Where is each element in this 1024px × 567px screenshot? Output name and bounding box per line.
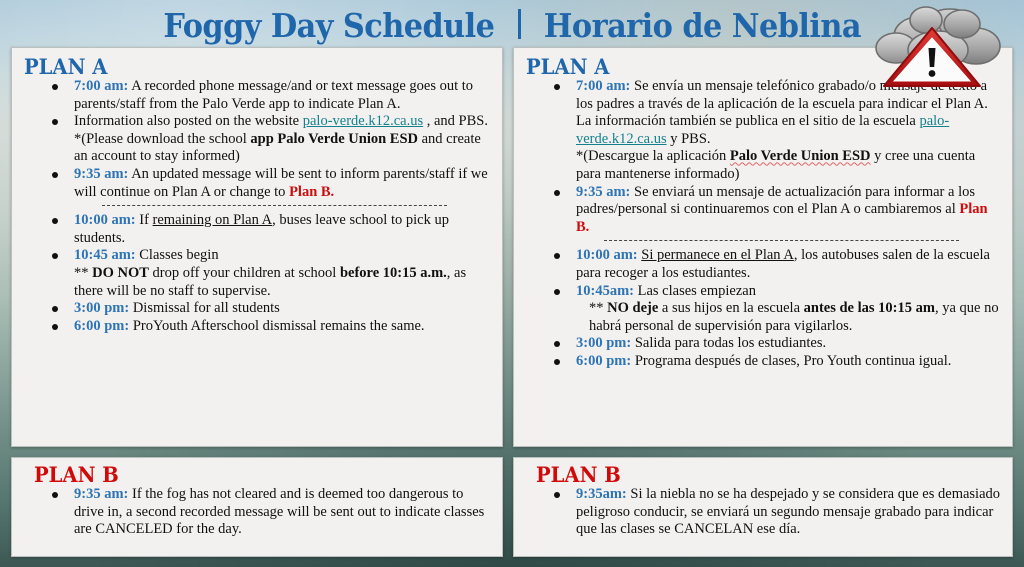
panel-plan-b-english: PLAN B 9:35 am: If the fog has not clear… xyxy=(11,457,503,557)
school-website-link[interactable]: palo-verde.k12.ca.us xyxy=(303,113,423,129)
list-item: Information also posted on the website p… xyxy=(48,113,492,166)
section-divider xyxy=(102,205,447,206)
item-text: Dismissal for all students xyxy=(129,300,280,316)
plan-b-heading-spanish: PLAN B xyxy=(536,464,979,486)
plan-b-heading-english: PLAN B xyxy=(34,464,469,486)
item-time: 3:00 pm: xyxy=(74,300,129,316)
item-text: An updated message will be sent to infor… xyxy=(74,166,488,200)
note-mid: a sus hijos en la escuela xyxy=(658,300,803,316)
list-item: 9:35 am: An updated message will be sent… xyxy=(48,166,492,206)
item-text: Salida para todas los estudiantes. xyxy=(631,335,826,351)
plan-a-list-spanish: 7:00 am: Se envía un mensaje telefónico … xyxy=(514,78,1012,371)
item-time: 10:45 am: xyxy=(74,247,136,263)
item-time: 10:45am: xyxy=(576,283,634,299)
item-time: 9:35 am: xyxy=(74,486,128,502)
list-item: 9:35 am: If the fog has not cleared and … xyxy=(48,486,492,539)
panel-plan-a-english: PLAN A 7:00 am: A recorded phone message… xyxy=(11,47,503,447)
item-note: *(Descargue la aplicación Palo Verde Uni… xyxy=(576,148,1002,183)
list-item: 3:00 pm: Dismissal for all students xyxy=(48,300,492,318)
item-time: 7:00 am: xyxy=(576,78,630,94)
panel-plan-a-spanish: PLAN A 7:00 am: Se envía un mensaje tele… xyxy=(513,47,1013,447)
section-divider xyxy=(604,240,959,241)
item-time: 6:00 pm: xyxy=(576,353,631,369)
item-text: Si la niebla no se ha despejado y se con… xyxy=(576,486,1000,537)
note-prefix: *(Descargue la aplicación xyxy=(576,148,730,164)
item-text: Classes begin xyxy=(136,247,219,263)
note-bold-do-not: DO NOT xyxy=(92,265,149,281)
note-bold-time: before 10:15 a.m. xyxy=(340,265,447,281)
item-text: If the fog has not cleared and is deemed… xyxy=(74,486,484,537)
item-time: 9:35am: xyxy=(576,486,627,502)
note-bold: app Palo Verde Union ESD xyxy=(250,131,418,147)
title-wrap: Foggy Day Schedule Horario de Neblina xyxy=(149,7,875,42)
note-mid: drop off your children at school xyxy=(149,265,340,281)
plan-b-list-spanish: 9:35am: Si la niebla no se ha despejado … xyxy=(514,486,1012,539)
list-item: 10:45 am: Classes begin ** DO NOT drop o… xyxy=(48,247,492,300)
item-text-underlined: Si permanece en el Plan A xyxy=(641,247,794,263)
list-item: 3:00 pm: Salida para todas los estudiant… xyxy=(550,335,1002,353)
list-item: 10:45am: Las clases empiezan ** NO deje … xyxy=(550,283,1002,336)
note-bold: Palo Verde Union ESD xyxy=(730,148,871,164)
item-text-after: , and PBS. xyxy=(423,113,488,129)
title-spanish: Horario de Neblina xyxy=(544,9,861,42)
note-prefix: ** xyxy=(589,300,607,316)
item-text-underlined: remaining on Plan A xyxy=(153,212,273,228)
plan-b-emphasis: Plan B. xyxy=(289,184,334,200)
item-text-after: y PBS. xyxy=(667,131,711,147)
item-text: Programa después de clases, Pro Youth co… xyxy=(631,353,951,369)
plan-a-heading-english: PLAN A xyxy=(24,56,469,78)
list-item: 6:00 pm: ProYouth Afterschool dismissal … xyxy=(48,318,492,336)
list-item: 6:00 pm: Programa después de clases, Pro… xyxy=(550,353,1002,371)
item-text: Se enviará un mensaje de actualización p… xyxy=(576,184,975,218)
item-note: ** DO NOT drop off your children at scho… xyxy=(74,265,492,300)
title-english: Foggy Day Schedule xyxy=(164,9,495,42)
item-text: Information also posted on the website xyxy=(74,113,303,129)
list-item: 7:00 am: A recorded phone message/and or… xyxy=(48,78,492,113)
note-bold-time: antes de las 10:15 am xyxy=(804,300,935,316)
panel-plan-b-spanish: PLAN B 9:35am: Si la niebla no se ha des… xyxy=(513,457,1013,557)
item-text-before: If xyxy=(136,212,153,228)
item-time: 7:00 am: xyxy=(74,78,128,94)
title-separator xyxy=(518,9,521,39)
item-text: A recorded phone message/and or text mes… xyxy=(74,78,473,112)
plan-a-list-english: 7:00 am: A recorded phone message/and or… xyxy=(12,78,502,335)
item-note: *(Please download the school app Palo Ve… xyxy=(74,131,492,166)
item-time: 10:00 am: xyxy=(74,212,136,228)
list-item: 10:00 am: If remaining on Plan A, buses … xyxy=(48,212,492,247)
item-time: 3:00 pm: xyxy=(576,335,631,351)
note-prefix: *(Please download the school xyxy=(74,131,250,147)
item-time: 9:35 am: xyxy=(74,166,128,182)
list-item: 9:35 am: Se enviará un mensaje de actual… xyxy=(550,184,1002,242)
note-prefix: ** xyxy=(74,265,92,281)
item-note: ** NO deje a sus hijos en la escuela ant… xyxy=(576,300,1002,335)
plan-b-list-english: 9:35 am: If the fog has not cleared and … xyxy=(12,486,502,539)
note-bold-no-deje: NO deje xyxy=(607,300,658,316)
item-time: 9:35 am: xyxy=(576,184,630,200)
foggy-day-schedule-poster: Foggy Day Schedule Horario de Neblina xyxy=(0,0,1024,567)
foggy-weather-warning-icon xyxy=(854,2,1014,98)
item-text: ProYouth Afterschool dismissal remains t… xyxy=(129,318,424,334)
item-time: 6:00 pm: xyxy=(74,318,129,334)
list-item: 9:35am: Si la niebla no se ha despejado … xyxy=(550,486,1002,539)
item-time: 10:00 am: xyxy=(576,247,638,263)
list-item: 10:00 am: Si permanece en el Plan A, los… xyxy=(550,247,1002,282)
item-text: Las clases empiezan xyxy=(634,283,756,299)
